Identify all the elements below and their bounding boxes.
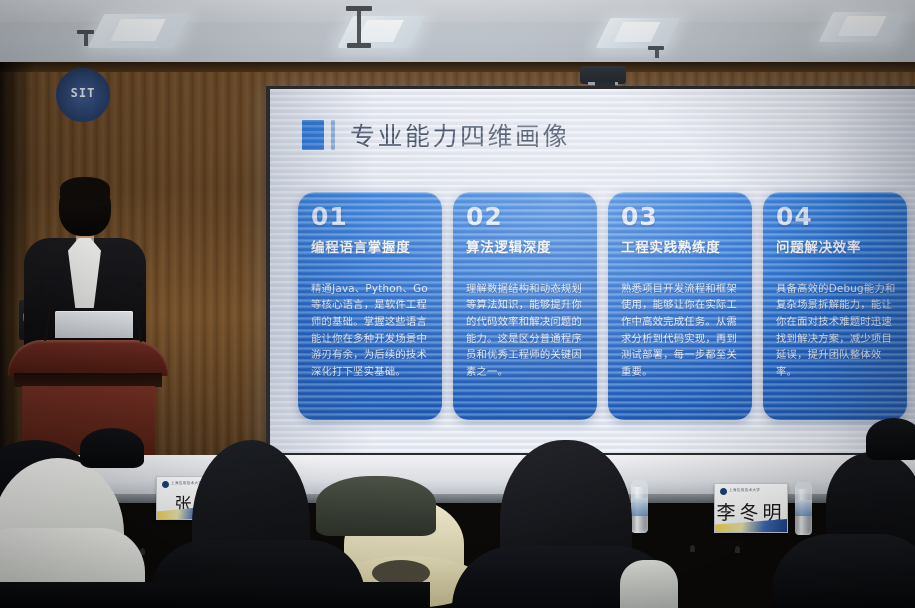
card-number: 02 — [466, 204, 586, 229]
nameplate-org-text: 上海应用技术大学 — [729, 488, 760, 493]
card-body-text: 理解数据结构和动态规划等算法知识，能够提升你的代码效率和解决问题的能力。这是区分… — [466, 281, 586, 381]
capability-card: 01 编程语言掌握度 精通Java、Python、Go等核心语言，是软件工程师的… — [298, 192, 442, 420]
ceiling-light-panel — [819, 12, 908, 42]
foreground-shadow-left — [0, 582, 430, 608]
university-emblem-icon: SIT — [56, 68, 110, 122]
card-number: 01 — [311, 204, 431, 229]
lecture-hall-photo: 专业能力四维画像 01 编程语言掌握度 精通Java、Python、Go等核心语… — [0, 0, 915, 608]
card-number: 04 — [776, 204, 896, 229]
ceiling-light-panel — [596, 18, 681, 48]
ceiling-light-panel — [88, 14, 191, 48]
light-panel-inner — [614, 22, 660, 42]
audience-member-back-row-right — [866, 418, 915, 460]
card-body-text: 熟悉项目开发流程和框架使用，能够让你在实际工作中高效完成任务。从需求分析到代码实… — [621, 281, 741, 381]
podium-microphone-head-icon — [39, 284, 46, 293]
light-panel-inner — [110, 19, 166, 41]
card-heading: 工程实践熟练度 — [621, 240, 741, 258]
podium-microphone-head-icon — [136, 281, 143, 290]
light-panel-inner — [838, 16, 886, 36]
capability-card: 02 算法逻辑深度 理解数据结构和动态规划等算法知识，能够提升你的代码效率和解决… — [453, 192, 597, 420]
university-emblem-text: SIT — [58, 86, 108, 100]
light-panel-inner — [356, 20, 404, 41]
card-body-text: 具备高效的Debug能力和复杂场景拆解能力，能让你在面对技术难题时迅速找到解决方… — [776, 281, 896, 381]
slide-title: 专业能力四维画像 — [350, 117, 570, 153]
bottle-label — [795, 500, 812, 516]
card-body-text: 精通Java、Python、Go等核心语言，是软件工程师的基础。掌握这些语言能让… — [311, 281, 431, 381]
presenter-hair — [60, 177, 110, 203]
ceiling-mount-plate — [346, 6, 372, 11]
wall-top-trim — [0, 62, 915, 72]
nameplate-logo-icon — [162, 481, 169, 488]
presenter-laptop — [55, 311, 133, 338]
audience-member-right-shoulders — [772, 534, 915, 608]
capability-card: 04 问题解决效率 具备高效的Debug能力和复杂场景拆解能力，能让你在面对技术… — [763, 192, 907, 420]
capability-card: 03 工程实践熟练度 熟悉项目开发流程和框架使用，能够让你在实际工作中高效完成任… — [608, 192, 752, 420]
bottle-cap-icon — [632, 480, 647, 487]
podium-desktop — [8, 340, 168, 376]
podium-shadow-band — [14, 373, 162, 387]
audience-member-olive-coat — [316, 476, 436, 536]
desk-microphone-icon — [735, 546, 740, 553]
bottle-cap-icon — [796, 482, 811, 489]
audience-member-back-row-left — [80, 428, 144, 468]
projection-screen: 专业能力四维画像 01 编程语言掌握度 精通Java、Python、Go等核心语… — [270, 89, 915, 453]
ceiling-sprinkler-stem — [84, 32, 88, 46]
title-accent-square-icon — [302, 120, 324, 150]
card-number: 03 — [621, 204, 741, 229]
title-accent-bar-icon — [331, 120, 335, 150]
audience-member-light-sleeve — [620, 560, 678, 608]
ceiling-mount-plate — [347, 43, 371, 48]
card-heading: 编程语言掌握度 — [311, 240, 431, 258]
capability-card-list: 01 编程语言掌握度 精通Java、Python、Go等核心语言，是软件工程师的… — [298, 192, 915, 424]
ceiling-mount-stem — [357, 8, 361, 46]
ceiling-sprinkler-head — [77, 30, 94, 34]
card-heading: 问题解决效率 — [776, 240, 896, 258]
slide-title-row: 专业能力四维画像 — [302, 117, 570, 153]
bottle-label — [631, 498, 648, 516]
desk-microphone-icon — [690, 545, 695, 552]
card-heading: 算法逻辑深度 — [466, 240, 586, 258]
nameplate: 上海应用技术大学 李冬明 — [714, 483, 788, 533]
ceiling-sprinkler-head — [648, 46, 664, 50]
nameplate-logo-icon — [720, 488, 727, 495]
